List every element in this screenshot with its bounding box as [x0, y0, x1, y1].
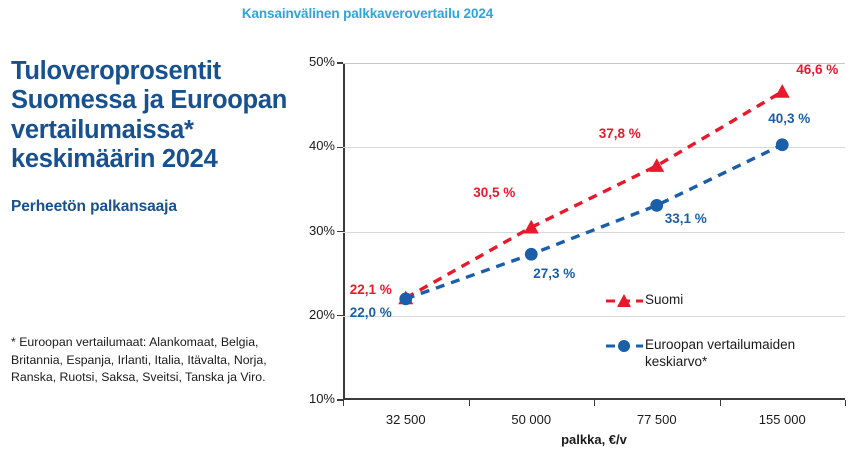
y-axis-label: 40%: [293, 138, 335, 153]
y-axis-label: 20%: [293, 307, 335, 322]
x-axis-label: 155 000: [727, 412, 837, 427]
x-axis-tick: [845, 400, 846, 406]
data-point-marker: [525, 248, 538, 261]
x-axis-label: 77 500: [602, 412, 712, 427]
header-title: Kansainvälinen palkkaverovertailu 2024: [0, 6, 735, 21]
page-subtitle: Perheetön palkansaaja: [11, 198, 289, 216]
x-axis-label: 32 500: [351, 412, 461, 427]
y-axis-label: 30%: [293, 223, 335, 238]
data-point-label: 37,8 %: [599, 126, 641, 141]
series-line-circle: [406, 145, 783, 299]
chart-legend: SuomiEuroopan vertailumaiden keskiarvo*: [605, 291, 841, 397]
x-axis-tick: [469, 400, 470, 406]
data-point-marker: [775, 84, 790, 98]
data-point-label: 27,3 %: [533, 266, 575, 281]
series-line-triangle: [406, 92, 783, 298]
data-point-marker: [649, 158, 664, 172]
x-axis-title: palkka, €/v: [343, 432, 845, 447]
legend-circle-marker-icon: [605, 337, 645, 355]
data-point-label: 22,1 %: [350, 282, 392, 297]
data-point-marker: [524, 220, 539, 234]
legend-item[interactable]: Euroopan vertailumaiden keskiarvo*: [605, 336, 841, 371]
page-title: Tuloveroprosentit Suomessa ja Euroopan v…: [11, 57, 289, 175]
x-axis-label: 50 000: [476, 412, 586, 427]
x-axis-tick: [594, 400, 595, 406]
legend-item[interactable]: Suomi: [605, 291, 841, 310]
data-point-marker: [776, 138, 789, 151]
x-axis-tick: [343, 400, 344, 406]
data-point-label: 40,3 %: [768, 111, 810, 126]
y-axis-label: 50%: [293, 54, 335, 69]
data-point-label: 46,6 %: [796, 62, 838, 77]
legend-label: Euroopan vertailumaiden keskiarvo*: [645, 336, 841, 371]
data-point-label: 22,0 %: [350, 305, 392, 320]
y-axis-label: 10%: [293, 391, 335, 406]
data-point-label: 30,5 %: [473, 185, 515, 200]
chart-container: 50%40%30%20%10% 32 50050 00077 500155 00…: [290, 44, 856, 449]
data-point-marker: [650, 199, 663, 212]
data-point-marker: [399, 293, 412, 306]
legend-triangle-marker-icon: [605, 292, 645, 310]
x-axis-tick: [720, 400, 721, 406]
left-panel: Tuloveroprosentit Suomessa ja Euroopan v…: [11, 57, 289, 216]
footnote-text: * Euroopan vertailumaat: Alankomaat, Bel…: [11, 334, 279, 387]
legend-label: Suomi: [645, 291, 683, 308]
plot-area: 50%40%30%20%10% 32 50050 00077 500155 00…: [343, 63, 845, 400]
data-point-label: 33,1 %: [665, 211, 707, 226]
